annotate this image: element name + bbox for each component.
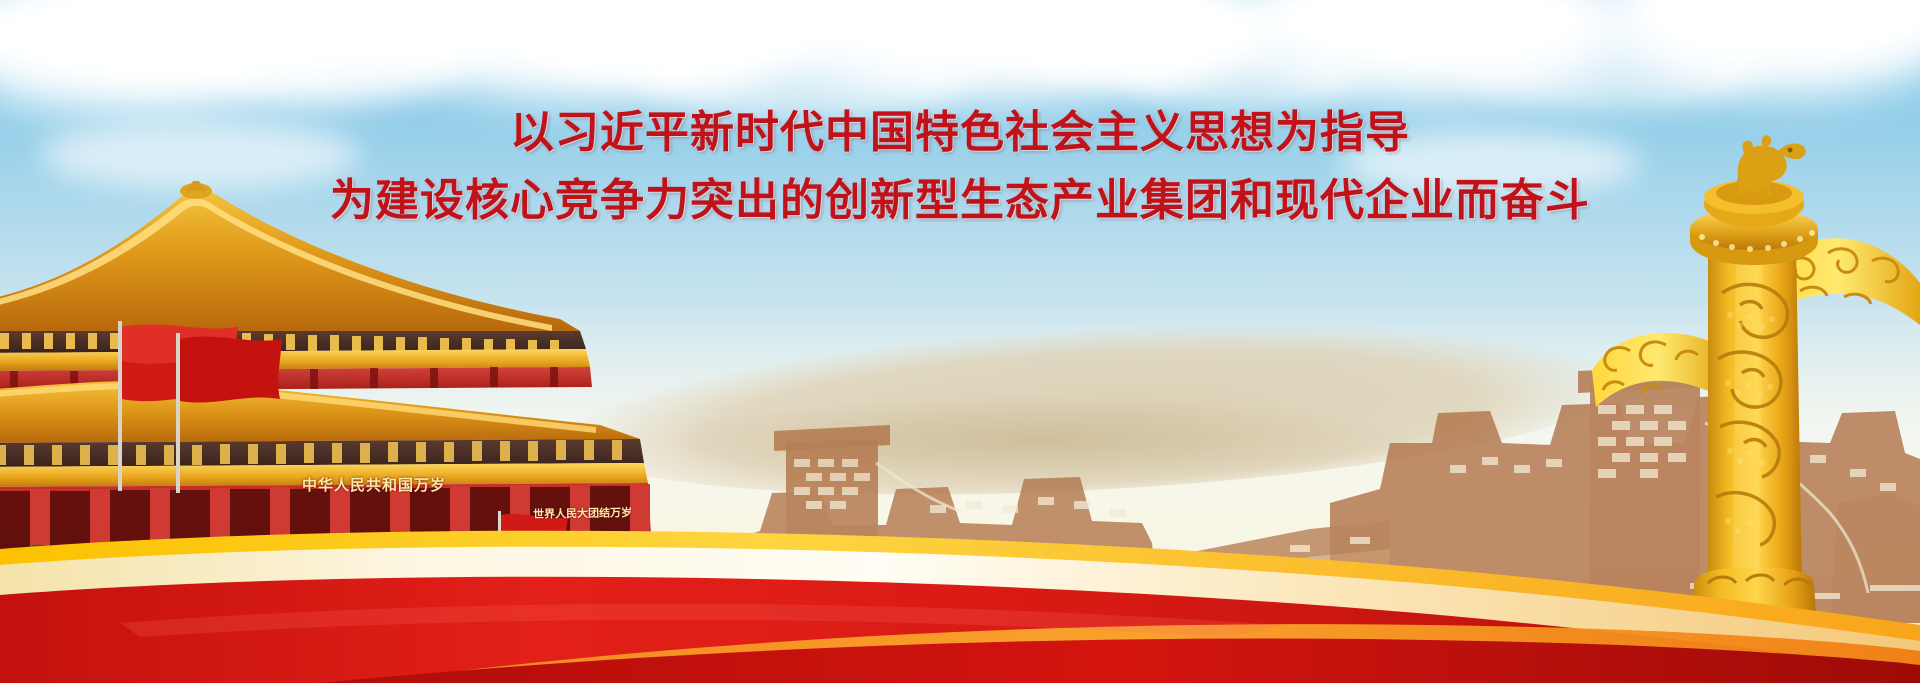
slogan-text-block: 以习近平新时代中国特色社会主义思想为指导 为建设核心竞争力突出的创新型生态产业集… <box>0 104 1920 230</box>
tiananmen-plaque-left-text: 中华人民共和国万岁 <box>302 474 446 495</box>
bottom-ribbon-decoration <box>0 473 1920 683</box>
slogan-line-1: 以习近平新时代中国特色社会主义思想为指导 <box>0 104 1920 162</box>
slogan-line-2: 为建设核心竞争力突出的创新型生态产业集团和现代企业而奋斗 <box>0 172 1920 230</box>
party-slogan-banner: 以习近平新时代中国特色社会主义思想为指导 为建设核心竞争力突出的创新型生态产业集… <box>0 0 1920 683</box>
tiananmen-plaque-right-text: 世界人民大团结万岁 <box>533 504 632 522</box>
